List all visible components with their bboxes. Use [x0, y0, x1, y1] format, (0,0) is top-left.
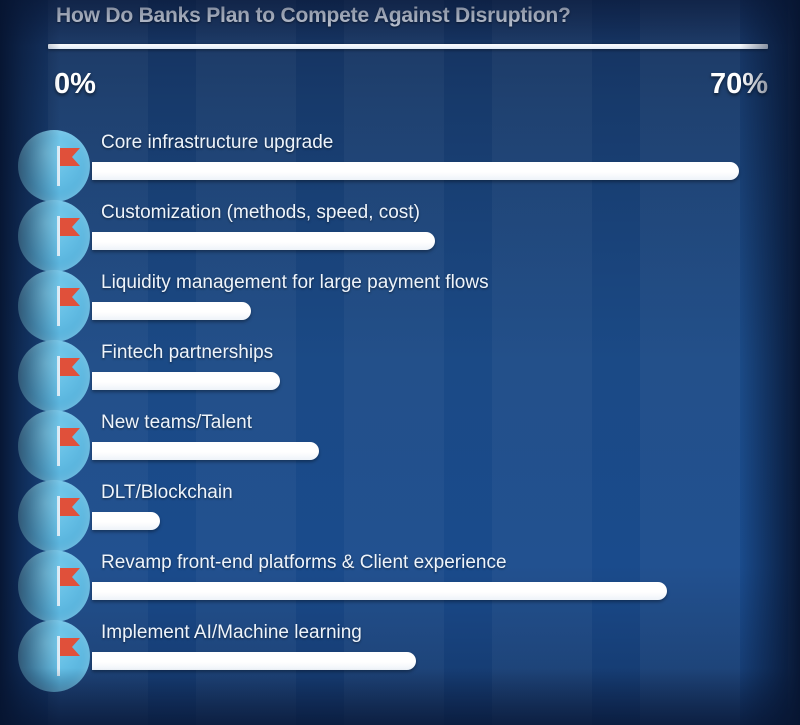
- bar-fill[interactable]: [92, 442, 319, 460]
- bar-track: [92, 372, 768, 390]
- flag-icon: [48, 214, 82, 258]
- bar-label: Revamp front-end platforms & Client expe…: [101, 552, 507, 574]
- bar-track: [92, 232, 768, 250]
- bar-label: Fintech partnerships: [101, 342, 273, 364]
- axis-min-label: 0%: [54, 70, 96, 99]
- chart-title: How Do Banks Plan to Compete Against Dis…: [56, 4, 571, 28]
- bar-track: [92, 582, 768, 600]
- flag-icon: [48, 284, 82, 328]
- flag-badge-icon: [18, 200, 90, 272]
- bar-rows: Core infrastructure upgrade Customizatio…: [0, 128, 800, 688]
- bar-label: Customization (methods, speed, cost): [101, 202, 420, 224]
- bar-label: DLT/Blockchain: [101, 482, 233, 504]
- bar-row: New teams/Talent: [0, 408, 800, 478]
- bar-row: Fintech partnerships: [0, 338, 800, 408]
- bar-label: Core infrastructure upgrade: [101, 132, 333, 154]
- bar-fill[interactable]: [92, 372, 280, 390]
- bar-row: Customization (methods, speed, cost): [0, 198, 800, 268]
- chart-canvas: How Do Banks Plan to Compete Against Dis…: [0, 0, 800, 725]
- bar-fill[interactable]: [92, 512, 160, 530]
- flag-badge-icon: [18, 410, 90, 482]
- bar-row: Implement AI/Machine learning: [0, 618, 800, 688]
- bar-row: Core infrastructure upgrade: [0, 128, 800, 198]
- bar-track: [92, 162, 768, 180]
- bar-row: Revamp front-end platforms & Client expe…: [0, 548, 800, 618]
- flag-badge-icon: [18, 340, 90, 412]
- flag-badge-icon: [18, 130, 90, 202]
- flag-badge-icon: [18, 480, 90, 552]
- flag-icon: [48, 494, 82, 538]
- bar-fill[interactable]: [92, 582, 667, 600]
- bar-track: [92, 512, 768, 530]
- bar-row: Liquidity management for large payment f…: [0, 268, 800, 338]
- title-underline-rule: [48, 44, 768, 49]
- flag-icon: [48, 354, 82, 398]
- flag-icon: [48, 564, 82, 608]
- bar-label: Liquidity management for large payment f…: [101, 272, 489, 294]
- bar-fill[interactable]: [92, 232, 435, 250]
- flag-icon: [48, 634, 82, 678]
- flag-icon: [48, 144, 82, 188]
- bar-row: DLT/Blockchain: [0, 478, 800, 548]
- flag-badge-icon: [18, 620, 90, 692]
- bar-label: New teams/Talent: [101, 412, 252, 434]
- bar-track: [92, 652, 768, 670]
- bar-fill[interactable]: [92, 302, 251, 320]
- bar-fill[interactable]: [92, 652, 416, 670]
- flag-badge-icon: [18, 270, 90, 342]
- axis-max-label: 70%: [710, 70, 768, 99]
- bar-track: [92, 442, 768, 460]
- bar-label: Implement AI/Machine learning: [101, 622, 362, 644]
- bar-fill[interactable]: [92, 162, 739, 180]
- bar-track: [92, 302, 768, 320]
- flag-badge-icon: [18, 550, 90, 622]
- flag-icon: [48, 424, 82, 468]
